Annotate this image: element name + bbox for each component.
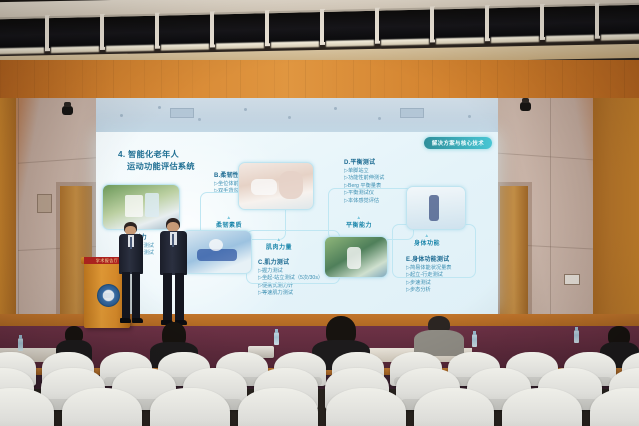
wood-grain-line [288, 60, 289, 100]
audience-seat[interactable] [62, 388, 142, 426]
left-wall-orange-edge [0, 98, 16, 330]
slide-title-line2: 运动功能评估系统 [118, 161, 195, 173]
audience-seat[interactable] [150, 388, 230, 426]
left-wall-seam [18, 98, 19, 330]
node-physical-function: ▲ 身体功能 [414, 234, 440, 247]
ceiling-downlight [334, 107, 337, 110]
ceiling-light [269, 10, 321, 43]
presenter-leg [163, 273, 172, 322]
right-wall-seam [498, 153, 593, 161]
audience-seat[interactable] [326, 388, 406, 426]
node-caret-icon: ▲ [216, 216, 242, 220]
presenter-tie [172, 234, 174, 247]
wood-grain-line [240, 60, 241, 100]
wood-grain-line [96, 60, 97, 100]
wood-grain-line [576, 60, 577, 100]
right-wall-seam [550, 98, 551, 330]
wood-grain-line [178, 60, 179, 100]
presenter-leg [122, 272, 130, 320]
right-wall [498, 98, 639, 330]
water-bottle [274, 332, 279, 345]
wood-grain-line [209, 60, 210, 100]
ceiling-downlight [468, 115, 471, 118]
ceiling-vent-panel [170, 108, 194, 118]
ceiling-light [0, 16, 46, 49]
node-label: 柔韧素质 [216, 223, 242, 229]
audience-seat[interactable] [238, 388, 318, 426]
right-wall-orange-edge [593, 98, 639, 330]
auditorium-scene: 解决方案与核心技术 4. 智能化老年人 运动功能评估系统 B.柔韧性测试 ▷坐位… [0, 0, 639, 426]
ceiling-light [379, 8, 431, 41]
wood-grain-line [322, 60, 323, 100]
slide-section-tag: 解决方案与核心技术 [424, 137, 492, 149]
ceiling-downlight [120, 114, 123, 117]
wood-grain-line [432, 60, 433, 100]
photo-shoulder-stretch [238, 162, 314, 210]
section-item: ▷步态分析 [406, 287, 452, 294]
wood-grain-line [624, 60, 625, 100]
wood-grain-line [384, 60, 385, 100]
presenter-leg [132, 272, 140, 320]
wood-grain-line [593, 60, 594, 100]
ceiling-downlight [378, 117, 381, 120]
ceiling-downlight [158, 106, 161, 109]
ceiling-light [544, 4, 596, 37]
wood-grain-line [82, 60, 83, 100]
ceiling-light [49, 15, 101, 48]
wood-grain-line [370, 60, 371, 100]
presenter-left [116, 222, 146, 328]
ceiling-light [599, 3, 639, 36]
node-flexibility: ▲ 柔韧素质 [216, 216, 242, 229]
presenter-leg [175, 273, 184, 322]
right-door[interactable] [500, 186, 528, 330]
section-heading: D.平衡测试 [344, 157, 384, 166]
node-caret-icon: ▲ [346, 216, 372, 220]
ceiling-light [324, 9, 376, 42]
wood-grain-line [353, 60, 354, 100]
water-bottle [574, 330, 579, 343]
ceiling-downlight [288, 116, 291, 119]
left-wall-plate [37, 194, 52, 213]
wood-grain-line [144, 60, 145, 100]
wood-grain-line [562, 60, 563, 100]
node-caret-icon: ▲ [414, 234, 440, 238]
wood-grain-line [274, 60, 275, 100]
slide-title: 4. 智能化老年人 运动功能评估系统 [118, 149, 195, 173]
wood-grain-line [480, 60, 481, 100]
wood-grain-line [48, 60, 49, 100]
node-muscle-strength: ▲ 肌肉力量 [266, 238, 292, 251]
node-label: 平衡能力 [346, 223, 372, 229]
water-bottle [472, 334, 477, 347]
presentation-slide: 解决方案与核心技术 4. 智能化老年人 运动功能评估系统 B.柔韧性测试 ▷坐位… [96, 132, 498, 314]
ceiling-light [214, 11, 266, 44]
audience-member [414, 316, 464, 352]
presenter-tie [130, 237, 132, 249]
ceiling-light [489, 5, 541, 38]
ceiling-downlight [244, 108, 247, 111]
left-wall-seam [18, 157, 96, 163]
wood-grain-line [192, 60, 193, 100]
node-balance: ▲ 平衡能力 [346, 216, 372, 229]
wood-grain-line [257, 60, 258, 100]
ceiling-light [104, 14, 156, 47]
wood-grain-line [336, 60, 337, 100]
wood-grain-line [418, 60, 419, 100]
stage-spotlight-icon [520, 102, 531, 111]
wood-grain-line [610, 60, 611, 100]
section-item: ▷功能性前伸测试 [344, 175, 384, 182]
wood-grain-line [528, 60, 529, 100]
wood-grain-line [401, 60, 402, 100]
wood-grain-line [514, 60, 515, 100]
wood-grain-line [449, 60, 450, 100]
photo-taichi [324, 236, 388, 278]
wood-grain-line [113, 60, 114, 100]
wood-grain-line [34, 60, 35, 100]
section-item: ▷等速肌力测试 [258, 290, 323, 297]
wood-grain-line [17, 60, 18, 100]
slide-title-line1: 4. 智能化老年人 [118, 150, 179, 159]
photo-walking [406, 186, 466, 230]
node-label: 肌肉力量 [266, 245, 292, 251]
wood-grain-line [226, 60, 227, 100]
connector-function [392, 224, 476, 278]
wood-grain-line [161, 60, 162, 100]
node-label: 身体功能 [414, 241, 440, 247]
presenter-shoe [120, 318, 131, 323]
wood-grain-line [305, 60, 306, 100]
ceiling-light [159, 13, 211, 46]
wood-grain-line [130, 60, 131, 100]
photo-leg-press [182, 230, 252, 274]
left-wall [0, 98, 96, 330]
wood-grain-line [497, 60, 498, 100]
ceiling-downlight [198, 118, 201, 121]
water-bottle [18, 338, 23, 351]
ceiling-light [434, 6, 486, 39]
upper-wood-wall [0, 60, 639, 100]
wood-grain-line [466, 60, 467, 100]
presenter-shoe [132, 318, 143, 323]
ceiling-vent-panel [400, 108, 424, 118]
wood-grain-line [0, 60, 1, 100]
wood-grain-line [545, 60, 546, 100]
stage-spotlight-icon [62, 106, 73, 115]
projection-screen: 解决方案与核心技术 4. 智能化老年人 运动功能评估系统 B.柔韧性测试 ▷坐位… [96, 132, 498, 314]
audience-seat[interactable] [502, 388, 582, 426]
right-wall-plate [564, 274, 580, 285]
audience-seat[interactable] [414, 388, 494, 426]
wood-grain-line [65, 60, 66, 100]
node-caret-icon: ▲ [266, 238, 292, 242]
presenter-right [158, 218, 190, 330]
